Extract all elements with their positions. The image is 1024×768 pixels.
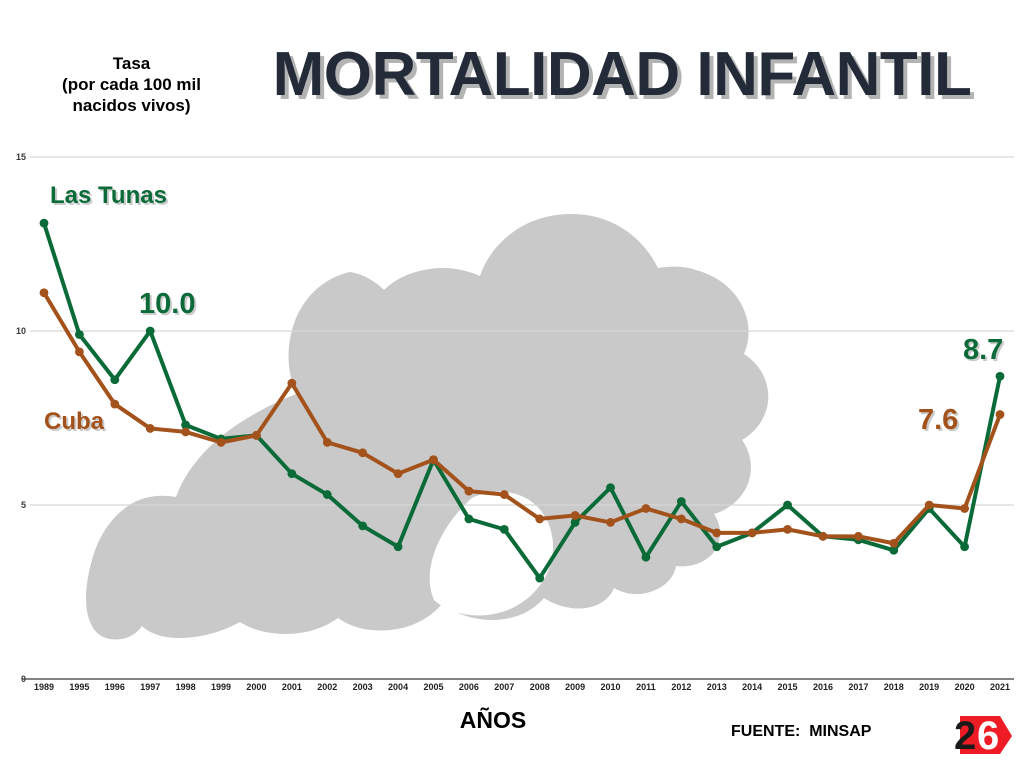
source-note: FUENTE: MINSAP xyxy=(731,723,871,741)
data-point[interactable] xyxy=(464,487,473,496)
series-label-las-tunas: Las Tunas xyxy=(50,182,167,210)
data-label-2021-cuba: 7.6 xyxy=(918,404,958,437)
data-point[interactable] xyxy=(40,219,49,228)
data-point[interactable] xyxy=(712,542,721,551)
data-point[interactable] xyxy=(146,424,155,433)
data-point[interactable] xyxy=(464,515,473,524)
data-point[interactable] xyxy=(40,288,49,297)
series-label-cuba: Cuba xyxy=(44,408,104,436)
data-point[interactable] xyxy=(677,515,686,524)
logo-digit-2: 2 xyxy=(954,714,976,758)
data-point[interactable] xyxy=(712,528,721,537)
data-point[interactable] xyxy=(783,525,792,534)
y-tick-5: 5 xyxy=(0,500,26,510)
line-chart: 051015 198919951996199719981999200020012… xyxy=(0,0,1024,700)
x-axis-title: AÑOS xyxy=(398,707,588,734)
data-point[interactable] xyxy=(925,501,934,510)
data-point[interactable] xyxy=(535,574,544,583)
chart-svg xyxy=(0,0,1024,700)
data-point[interactable] xyxy=(358,448,367,457)
data-point[interactable] xyxy=(606,518,615,527)
data-point[interactable] xyxy=(606,483,615,492)
logo-digit-6: 6 xyxy=(977,714,999,758)
logo-26[interactable]: 2 6 xyxy=(948,712,1014,758)
data-point[interactable] xyxy=(394,542,403,551)
data-point[interactable] xyxy=(110,400,119,409)
infographic-canvas: Tasa (por cada 100 mil nacidos vivos) MO… xyxy=(0,0,1024,768)
data-point[interactable] xyxy=(500,490,509,499)
data-label-2021-las-tunas: 8.7 xyxy=(963,334,1003,367)
data-point[interactable] xyxy=(642,553,651,562)
data-point[interactable] xyxy=(748,528,757,537)
data-point[interactable] xyxy=(783,501,792,510)
data-point[interactable] xyxy=(854,532,863,541)
data-point[interactable] xyxy=(535,515,544,524)
x-tick-2021: 2021 xyxy=(978,682,1022,692)
data-point[interactable] xyxy=(429,455,438,464)
data-point[interactable] xyxy=(323,490,332,499)
data-point[interactable] xyxy=(287,469,296,478)
data-point[interactable] xyxy=(960,504,969,513)
data-point[interactable] xyxy=(110,375,119,384)
data-point[interactable] xyxy=(642,504,651,513)
data-point[interactable] xyxy=(323,438,332,447)
data-point[interactable] xyxy=(287,379,296,388)
data-point[interactable] xyxy=(996,410,1005,419)
y-tick-10: 10 xyxy=(0,326,26,336)
data-point[interactable] xyxy=(500,525,509,534)
data-point[interactable] xyxy=(252,431,261,440)
data-point[interactable] xyxy=(75,347,84,356)
data-label-1997-las-tunas: 10.0 xyxy=(139,288,195,321)
data-point[interactable] xyxy=(146,327,155,336)
data-point[interactable] xyxy=(181,428,190,437)
data-point[interactable] xyxy=(819,532,828,541)
data-point[interactable] xyxy=(996,372,1005,381)
data-point[interactable] xyxy=(960,542,969,551)
data-point[interactable] xyxy=(217,438,226,447)
data-point[interactable] xyxy=(394,469,403,478)
data-point[interactable] xyxy=(677,497,686,506)
data-point[interactable] xyxy=(889,539,898,548)
y-tick-15: 15 xyxy=(0,152,26,162)
data-point[interactable] xyxy=(75,330,84,339)
data-point[interactable] xyxy=(571,511,580,520)
data-point[interactable] xyxy=(358,521,367,530)
